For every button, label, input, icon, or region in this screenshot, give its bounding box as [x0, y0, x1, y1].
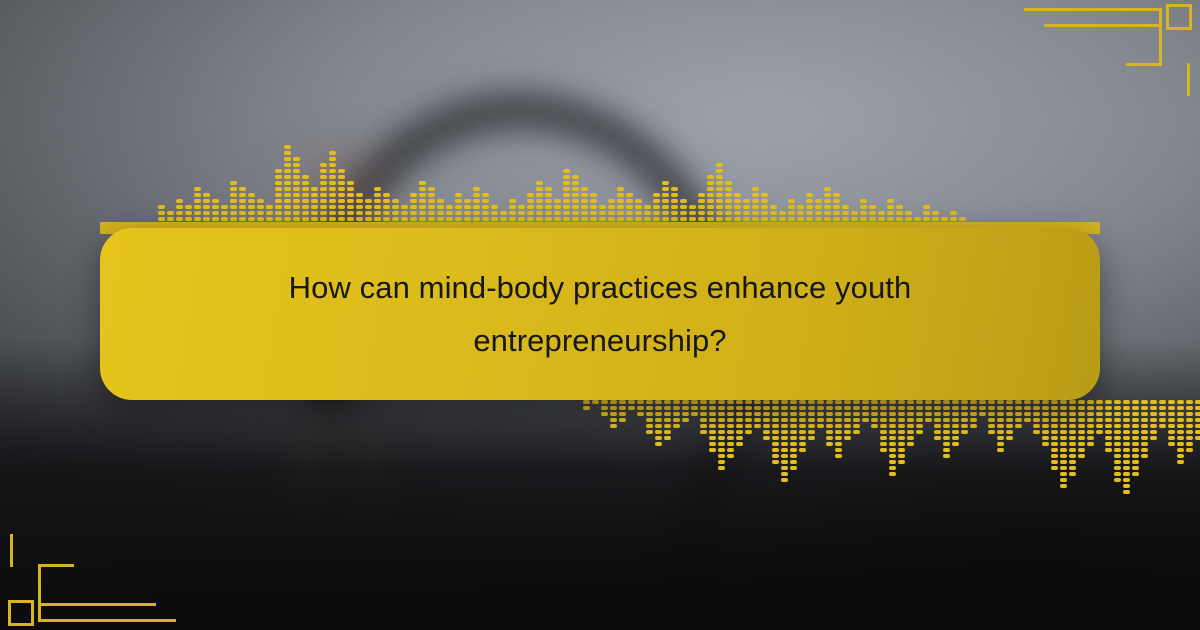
waveform-column [1105, 400, 1112, 452]
waveform-dot [880, 442, 887, 446]
waveform-dot [979, 406, 986, 410]
waveform-dot [1177, 400, 1184, 404]
waveform-dot [916, 406, 923, 410]
waveform-column [1114, 400, 1121, 482]
waveform-dot [860, 211, 867, 215]
waveform-dot [329, 151, 336, 155]
waveform-dot [826, 442, 833, 446]
waveform-dot [970, 400, 977, 404]
waveform-dot [743, 217, 750, 221]
waveform-dot [509, 199, 516, 203]
waveform-dot [239, 199, 246, 203]
waveform-dot [1051, 412, 1058, 416]
waveform-dot [808, 430, 815, 434]
waveform-dot [1006, 436, 1013, 440]
waveform-column [673, 400, 680, 428]
waveform-dot [709, 400, 716, 404]
waveform-dot [646, 400, 653, 404]
waveform-dot [563, 217, 570, 221]
waveform-dot [610, 400, 617, 404]
waveform-dot [482, 193, 489, 197]
waveform-dot [781, 400, 788, 404]
waveform-dot [527, 217, 534, 221]
waveform-dot [889, 418, 896, 422]
waveform-dot [554, 199, 561, 203]
waveform-dot [1168, 418, 1175, 422]
waveform-column [599, 205, 606, 221]
waveform-dot [619, 418, 626, 422]
waveform-column [1087, 400, 1094, 446]
waveform-dot [1132, 424, 1139, 428]
waveform-column [1141, 400, 1148, 458]
waveform-dot [824, 217, 831, 221]
waveform-dot [266, 211, 273, 215]
waveform-dot [835, 436, 842, 440]
waveform-dot [590, 205, 597, 209]
waveform-dot [781, 424, 788, 428]
waveform-dot [889, 466, 896, 470]
waveform-dot [754, 406, 761, 410]
waveform-dot [365, 199, 372, 203]
waveform-column [590, 193, 597, 221]
waveform-dot [1042, 400, 1049, 404]
waveform-column [536, 181, 543, 221]
waveform-column [716, 163, 723, 221]
waveform-dot [880, 448, 887, 452]
waveform-column [464, 199, 471, 221]
waveform-dot [997, 406, 1004, 410]
waveform-dot [1186, 430, 1193, 434]
waveform-dot [826, 412, 833, 416]
waveform-dot [662, 199, 669, 203]
waveform-dot [655, 412, 662, 416]
question-card[interactable]: How can mind-body practices enhance yout… [100, 228, 1100, 400]
waveform-dot [590, 217, 597, 221]
waveform-dot [889, 442, 896, 446]
waveform-dot [1114, 478, 1121, 482]
waveform-dot [1006, 400, 1013, 404]
waveform-dot [700, 418, 707, 422]
waveform-dot [736, 430, 743, 434]
waveform-dot [572, 199, 579, 203]
waveform-dot [817, 412, 824, 416]
waveform-column [887, 199, 894, 221]
waveform-dot [320, 205, 327, 209]
waveform-dot [608, 211, 615, 215]
waveform-dot [979, 412, 986, 416]
waveform-dot [826, 424, 833, 428]
waveform-dot [700, 406, 707, 410]
waveform-dot [734, 205, 741, 209]
waveform-column [772, 400, 779, 464]
waveform-dot [842, 211, 849, 215]
waveform-dot [311, 211, 318, 215]
waveform-dot [853, 406, 860, 410]
waveform-dot [772, 442, 779, 446]
waveform-dot [671, 193, 678, 197]
waveform-dot [554, 205, 561, 209]
waveform-dot [781, 454, 788, 458]
waveform-dot [781, 412, 788, 416]
waveform-dot [176, 205, 183, 209]
waveform-dot [329, 199, 336, 203]
waveform-dot [752, 217, 759, 221]
waveform-dot [716, 169, 723, 173]
waveform-column [1006, 400, 1013, 440]
waveform-dot [1195, 424, 1200, 428]
waveform-dot [248, 193, 255, 197]
waveform-column [808, 400, 815, 440]
waveform-dot [880, 412, 887, 416]
waveform-column [752, 187, 759, 221]
waveform-dot [1078, 454, 1085, 458]
waveform-dot [610, 412, 617, 416]
waveform-dot [871, 418, 878, 422]
waveform-column [907, 400, 914, 446]
waveform-dot [943, 424, 950, 428]
waveform-dot [664, 436, 671, 440]
waveform-dot [1132, 412, 1139, 416]
waveform-dot [797, 205, 804, 209]
waveform-dot [826, 418, 833, 422]
waveform-dot [707, 193, 714, 197]
waveform-dot [592, 400, 599, 404]
waveform-dot [808, 406, 815, 410]
waveform-dot [473, 211, 480, 215]
waveform-dot [752, 211, 759, 215]
waveform-dot [961, 406, 968, 410]
waveform-dot [941, 217, 948, 221]
waveform-column [745, 400, 752, 434]
waveform-dot [788, 217, 795, 221]
waveform-dot [727, 430, 734, 434]
waveform-dot [869, 211, 876, 215]
waveform-column [473, 187, 480, 221]
waveform-dot [536, 187, 543, 191]
waveform-dot [761, 199, 768, 203]
waveform-dot [644, 217, 651, 221]
waveform-dot [194, 199, 201, 203]
waveform-dot [835, 406, 842, 410]
waveform-dot [365, 217, 372, 221]
waveform-dot [716, 211, 723, 215]
waveform-dot [680, 217, 687, 221]
waveform-dot [1177, 436, 1184, 440]
waveform-dot [320, 175, 327, 179]
waveform-dot [563, 211, 570, 215]
waveform-dot [1060, 412, 1067, 416]
waveform-dot [799, 448, 806, 452]
waveform-dot [356, 217, 363, 221]
waveform-dot [410, 205, 417, 209]
waveform-column [979, 400, 986, 416]
waveform-dot [790, 418, 797, 422]
waveform-dot [1123, 430, 1130, 434]
waveform-column [878, 211, 885, 221]
waveform-dot [1195, 406, 1200, 410]
waveform-dot [329, 157, 336, 161]
waveform-dot [943, 412, 950, 416]
waveform-dot [943, 430, 950, 434]
waveform-dot [248, 217, 255, 221]
waveform-dot [691, 412, 698, 416]
waveform-dot [952, 424, 959, 428]
waveform-dot [248, 205, 255, 209]
waveform-dot [239, 187, 246, 191]
waveform-column [842, 205, 849, 221]
waveform-dot [842, 217, 849, 221]
waveform-dot [970, 406, 977, 410]
waveform-dot [302, 211, 309, 215]
waveform-dot [302, 199, 309, 203]
waveform-dot [781, 430, 788, 434]
waveform-dot [916, 430, 923, 434]
waveform-dot [581, 199, 588, 203]
waveform-dot [1105, 406, 1112, 410]
waveform-dot [275, 199, 282, 203]
waveform-column [952, 400, 959, 446]
waveform-column [311, 187, 318, 221]
waveform-dot [1051, 424, 1058, 428]
waveform-dot [626, 193, 633, 197]
waveform-dot [545, 211, 552, 215]
waveform-dot [419, 193, 426, 197]
waveform-dot [194, 217, 201, 221]
waveform-dot [896, 205, 903, 209]
waveform-dot [817, 406, 824, 410]
waveform-dot [185, 211, 192, 215]
waveform-dot [284, 217, 291, 221]
waveform-dot [1096, 430, 1103, 434]
waveform-dot [869, 217, 876, 221]
waveform-dot [761, 193, 768, 197]
waveform-dot [727, 418, 734, 422]
waveform-dot [257, 205, 264, 209]
waveform-dot [673, 406, 680, 410]
waveform-dot [329, 169, 336, 173]
waveform-dot [664, 400, 671, 404]
waveform-dot [338, 193, 345, 197]
waveform-column [869, 205, 876, 221]
waveform-dot [673, 400, 680, 404]
waveform-column [1096, 400, 1103, 434]
waveform-dot [626, 205, 633, 209]
waveform-column [617, 187, 624, 221]
waveform-dot [707, 199, 714, 203]
waveform-dot [826, 400, 833, 404]
waveform-dot [293, 163, 300, 167]
waveform-dot [907, 424, 914, 428]
waveform-column [374, 187, 381, 221]
waveform-dot [790, 412, 797, 416]
waveform-dot [925, 406, 932, 410]
waveform-dot [446, 217, 453, 221]
waveform-dot [673, 424, 680, 428]
waveform-dot [934, 436, 941, 440]
waveform-dot [664, 424, 671, 428]
waveform-dot [898, 430, 905, 434]
waveform-dot [826, 406, 833, 410]
waveform-dot [662, 211, 669, 215]
waveform-dot [257, 217, 264, 221]
waveform-dot [1060, 484, 1067, 488]
waveform-dot [898, 412, 905, 416]
waveform-dot [437, 217, 444, 221]
waveform-column [644, 205, 651, 221]
waveform-dot [518, 211, 525, 215]
waveform-dot [907, 412, 914, 416]
waveform-column [824, 187, 831, 221]
waveform-dot [806, 205, 813, 209]
waveform-column [518, 205, 525, 221]
waveform-dot [725, 199, 732, 203]
waveform-dot [878, 217, 885, 221]
waveform-dot [716, 205, 723, 209]
waveform-dot [889, 472, 896, 476]
waveform-dot [824, 205, 831, 209]
waveform-dot [889, 430, 896, 434]
waveform-dot [988, 418, 995, 422]
waveform-dot [889, 406, 896, 410]
waveform-dot [1060, 466, 1067, 470]
waveform-dot [682, 406, 689, 410]
waveform-dot [763, 436, 770, 440]
waveform-dot [907, 430, 914, 434]
waveform-dot [428, 187, 435, 191]
waveform-column [932, 211, 939, 221]
waveform-column [698, 193, 705, 221]
waveform-dot [1186, 418, 1193, 422]
waveform-dot [1123, 490, 1130, 494]
waveform-dot [302, 181, 309, 185]
waveform-dot [176, 211, 183, 215]
waveform-dot [230, 193, 237, 197]
waveform-dot [790, 448, 797, 452]
waveform-column [592, 400, 599, 404]
waveform-dot [257, 199, 264, 203]
waveform-dot [284, 175, 291, 179]
waveform-dot [1123, 412, 1130, 416]
waveform-column [664, 400, 671, 440]
waveform-dot [898, 424, 905, 428]
waveform-dot [1060, 424, 1067, 428]
waveform-dot [1123, 424, 1130, 428]
waveform-column [601, 400, 608, 416]
waveform-dot [914, 217, 921, 221]
waveform-dot [1060, 406, 1067, 410]
waveform-dot [1069, 466, 1076, 470]
waveform-dot [1069, 442, 1076, 446]
waveform-dot [563, 169, 570, 173]
waveform-dot [1123, 472, 1130, 476]
waveform-dot [1186, 436, 1193, 440]
waveform-dot [1132, 454, 1139, 458]
waveform-dot [761, 211, 768, 215]
waveform-column [1042, 400, 1049, 446]
waveform-dot [682, 418, 689, 422]
waveform-dot [889, 454, 896, 458]
question-text: How can mind-body practices enhance yout… [158, 261, 1042, 368]
waveform-dot [302, 193, 309, 197]
waveform-dot [572, 181, 579, 185]
waveform-dot [1168, 430, 1175, 434]
waveform-dot [698, 199, 705, 203]
waveform-dot [293, 169, 300, 173]
waveform-dot [781, 478, 788, 482]
waveform-dot [916, 400, 923, 404]
waveform-dot [806, 217, 813, 221]
waveform-dot [844, 430, 851, 434]
waveform-column [707, 175, 714, 221]
waveform-dot [835, 442, 842, 446]
waveform-dot [302, 205, 309, 209]
waveform-dot [763, 400, 770, 404]
waveform-column [293, 157, 300, 221]
waveform-dot [752, 205, 759, 209]
waveform-dot [1060, 436, 1067, 440]
waveform-dot [736, 412, 743, 416]
waveform-dot [961, 400, 968, 404]
waveform-dot [943, 436, 950, 440]
waveform-dot [293, 205, 300, 209]
waveform-column [997, 400, 1004, 452]
waveform-dot [797, 217, 804, 221]
waveform-dot [401, 217, 408, 221]
waveform-dot [1150, 436, 1157, 440]
waveform-column [1033, 400, 1040, 434]
waveform-column [239, 187, 246, 221]
waveform-column [635, 199, 642, 221]
waveform-dot [961, 424, 968, 428]
waveform-dot [943, 454, 950, 458]
waveform-dot [1069, 448, 1076, 452]
waveform-column [554, 199, 561, 221]
waveform-dot [871, 400, 878, 404]
waveform-dot [1078, 412, 1085, 416]
waveform-dot [790, 430, 797, 434]
waveform-dot [770, 217, 777, 221]
waveform-dot [988, 406, 995, 410]
waveform-dot [545, 199, 552, 203]
waveform-column [923, 205, 930, 221]
waveform-dot [1123, 454, 1130, 458]
waveform-dot [347, 187, 354, 191]
waveform-dot [581, 187, 588, 191]
waveform-dot [1114, 454, 1121, 458]
waveform-dot [619, 412, 626, 416]
waveform-dot [563, 181, 570, 185]
waveform-dot [880, 406, 887, 410]
waveform-dot [374, 199, 381, 203]
waveform-dot [464, 217, 471, 221]
waveform-dot [664, 418, 671, 422]
waveform-dot [745, 430, 752, 434]
waveform-dot [835, 448, 842, 452]
waveform-dot [284, 169, 291, 173]
waveform-dot [781, 472, 788, 476]
waveform-dot [898, 436, 905, 440]
waveform-column [736, 400, 743, 446]
waveform-dot [725, 181, 732, 185]
waveform-dot [1114, 448, 1121, 452]
waveform-dot [680, 211, 687, 215]
waveform-column [419, 181, 426, 221]
waveform-dot [158, 211, 165, 215]
waveform-dot [536, 211, 543, 215]
waveform-dot [707, 211, 714, 215]
waveform-column [671, 187, 678, 221]
waveform-dot [383, 199, 390, 203]
